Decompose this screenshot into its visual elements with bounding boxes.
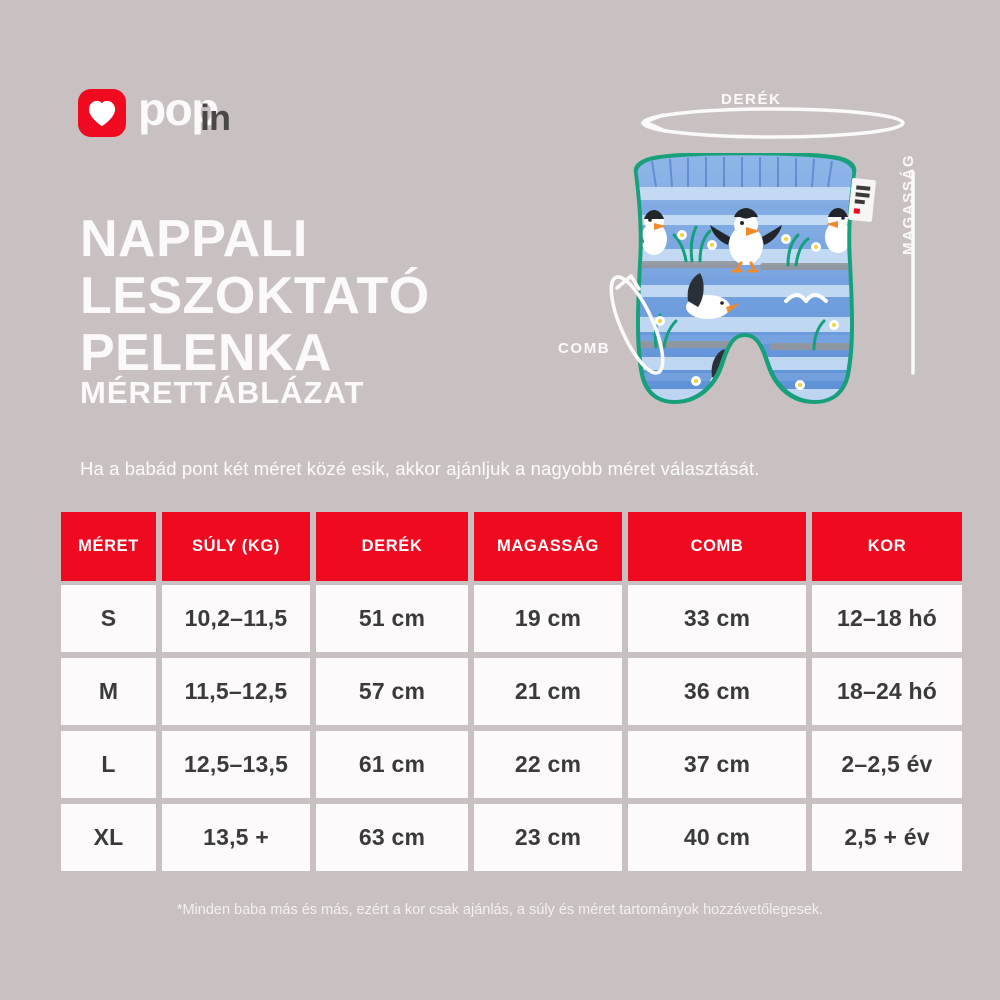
lead-paragraph: Ha a babád pont két méret közé esik, akk…	[80, 458, 930, 480]
table-header-s-ly-kg: SÚLY (KG)	[162, 512, 310, 581]
table-cell: 36 cm	[628, 658, 806, 725]
label-waist: DERÉK	[721, 91, 782, 108]
measurement-annotations	[545, 75, 985, 420]
table-cell: 22 cm	[474, 731, 622, 798]
table-cell: 10,2–11,5	[162, 585, 310, 652]
table-cell: 13,5 +	[162, 804, 310, 871]
table-cell: 61 cm	[316, 731, 468, 798]
size-table: MÉRETSÚLY (KG)DERÉKMAGASSÁGCOMBKORS10,2–…	[61, 512, 939, 871]
table-cell: 12–18 hó	[812, 585, 962, 652]
table-cell: 33 cm	[628, 585, 806, 652]
table-cell: 21 cm	[474, 658, 622, 725]
table-header-kor: KOR	[812, 512, 962, 581]
label-height: MAGASSÁG	[900, 154, 917, 255]
title-line-3: PELENKA	[80, 325, 550, 382]
table-cell: 2,5 + év	[812, 804, 962, 871]
logo-text-in: in	[200, 100, 230, 136]
table-cell: 19 cm	[474, 585, 622, 652]
table-header-comb: COMB	[628, 512, 806, 581]
table-cell: 12,5–13,5	[162, 731, 310, 798]
table-header-magass-g: MAGASSÁG	[474, 512, 622, 581]
table-row-size-label: M	[61, 658, 156, 725]
table-row-size-label: S	[61, 585, 156, 652]
waist-measure-ellipse	[643, 109, 903, 137]
measurement-diagram: DERÉK COMB MAGASSÁG	[545, 75, 985, 420]
size-chart-page: pop in NAPPALI LESZOKTATÓ PELENKA MÉRETT…	[0, 0, 1000, 1000]
logo-badge	[78, 89, 126, 137]
table-cell: 2–2,5 év	[812, 731, 962, 798]
table-cell: 40 cm	[628, 804, 806, 871]
table-cell: 18–24 hó	[812, 658, 962, 725]
logo-wordmark: pop in	[138, 88, 256, 138]
title-line-1: NAPPALI	[80, 211, 550, 268]
table-cell: 63 cm	[316, 804, 468, 871]
table-cell: 57 cm	[316, 658, 468, 725]
table-header-m-ret: MÉRET	[61, 512, 156, 581]
title-line-2: LESZOKTATÓ	[80, 268, 550, 325]
table-row-size-label: L	[61, 731, 156, 798]
table-cell: 51 cm	[316, 585, 468, 652]
heart-icon	[87, 99, 117, 127]
table-header-der-k: DERÉK	[316, 512, 468, 581]
table-row-size-label: XL	[61, 804, 156, 871]
table-cell: 23 cm	[474, 804, 622, 871]
brand-logo: pop in	[78, 88, 256, 138]
table-cell: 11,5–12,5	[162, 658, 310, 725]
table-cell: 37 cm	[628, 731, 806, 798]
footnote-text: *Minden baba más és más, ezért a kor csa…	[0, 902, 1000, 918]
page-title: NAPPALI LESZOKTATÓ PELENKA	[80, 211, 550, 382]
label-thigh: COMB	[558, 340, 610, 357]
page-subtitle: MÉRETTÁBLÁZAT	[80, 375, 365, 411]
